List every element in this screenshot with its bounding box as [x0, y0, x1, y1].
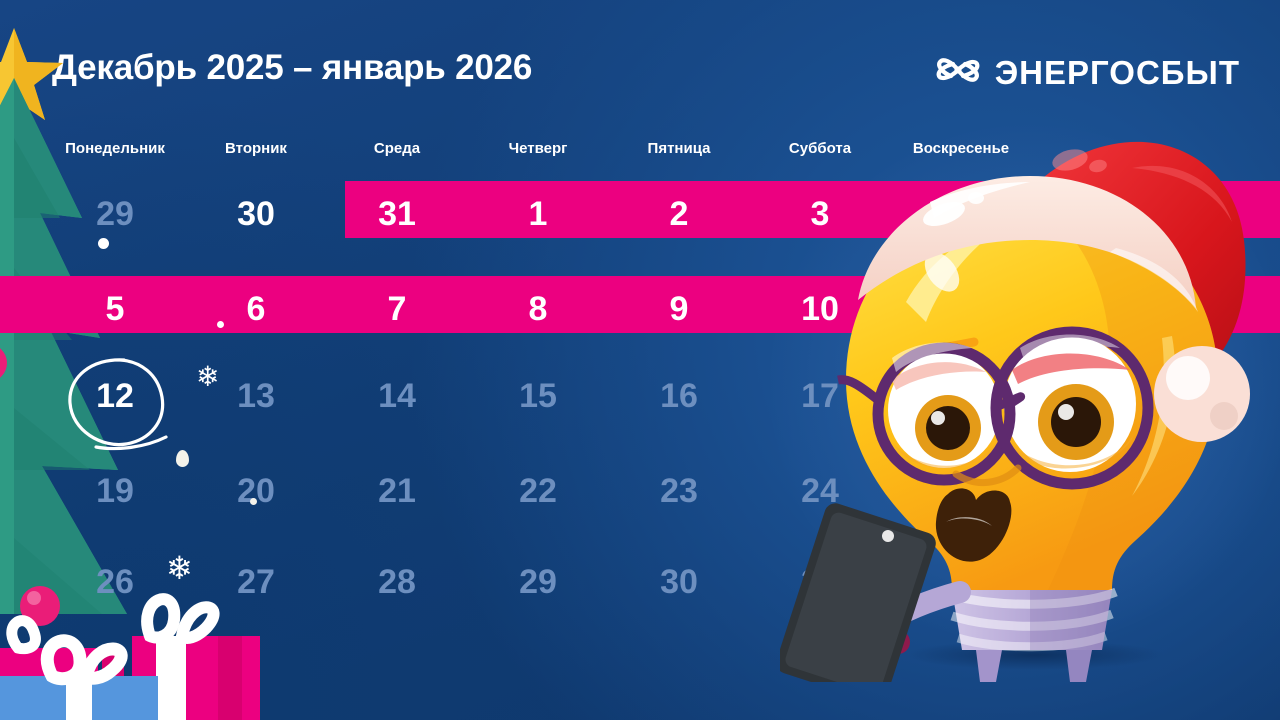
- light-bulb-mascot: [780, 122, 1280, 682]
- day-cell[interactable]: 1: [483, 190, 593, 238]
- leg-right: [1066, 650, 1092, 682]
- day-cell[interactable]: 29: [483, 558, 593, 606]
- day-cell[interactable]: 28: [342, 558, 452, 606]
- day-cell[interactable]: 9: [624, 285, 734, 333]
- day-cell[interactable]: 5: [60, 285, 170, 333]
- dot-icon: [217, 321, 224, 328]
- leg-left: [976, 650, 1002, 682]
- dot-icon: [98, 238, 109, 249]
- day-cell[interactable]: 30: [624, 558, 734, 606]
- dot-icon: [176, 450, 189, 467]
- day-cell[interactable]: 7: [342, 285, 452, 333]
- day-cell[interactable]: 14: [342, 372, 452, 420]
- day-cell[interactable]: 2: [624, 190, 734, 238]
- day-cell[interactable]: 31: [342, 190, 452, 238]
- day-cell[interactable]: 20: [201, 467, 311, 515]
- bulb-base: [948, 590, 1116, 650]
- dot-icon: [250, 498, 257, 505]
- weekday-wednesday: Среда: [374, 140, 420, 157]
- day-cell[interactable]: 21: [342, 467, 452, 515]
- snowflake-icon: ❄: [166, 552, 193, 584]
- weekday-tuesday: Вторник: [225, 140, 287, 157]
- day-cell-selected[interactable]: 12: [60, 372, 170, 420]
- weekday-thursday: Четверг: [509, 140, 568, 157]
- day-cell[interactable]: 22: [483, 467, 593, 515]
- day-cell[interactable]: 19: [60, 467, 170, 515]
- day-cell[interactable]: 29: [60, 190, 170, 238]
- day-cell[interactable]: 8: [483, 285, 593, 333]
- day-cell[interactable]: 27: [201, 558, 311, 606]
- weekday-monday: Понедельник: [65, 140, 165, 157]
- day-cell[interactable]: 30: [201, 190, 311, 238]
- snowflake-icon: ❄: [196, 363, 219, 391]
- day-cell[interactable]: 23: [624, 467, 734, 515]
- weekday-friday: Пятница: [648, 140, 711, 157]
- day-cell[interactable]: 26: [60, 558, 170, 606]
- day-cell[interactable]: 15: [483, 372, 593, 420]
- day-cell[interactable]: 16: [624, 372, 734, 420]
